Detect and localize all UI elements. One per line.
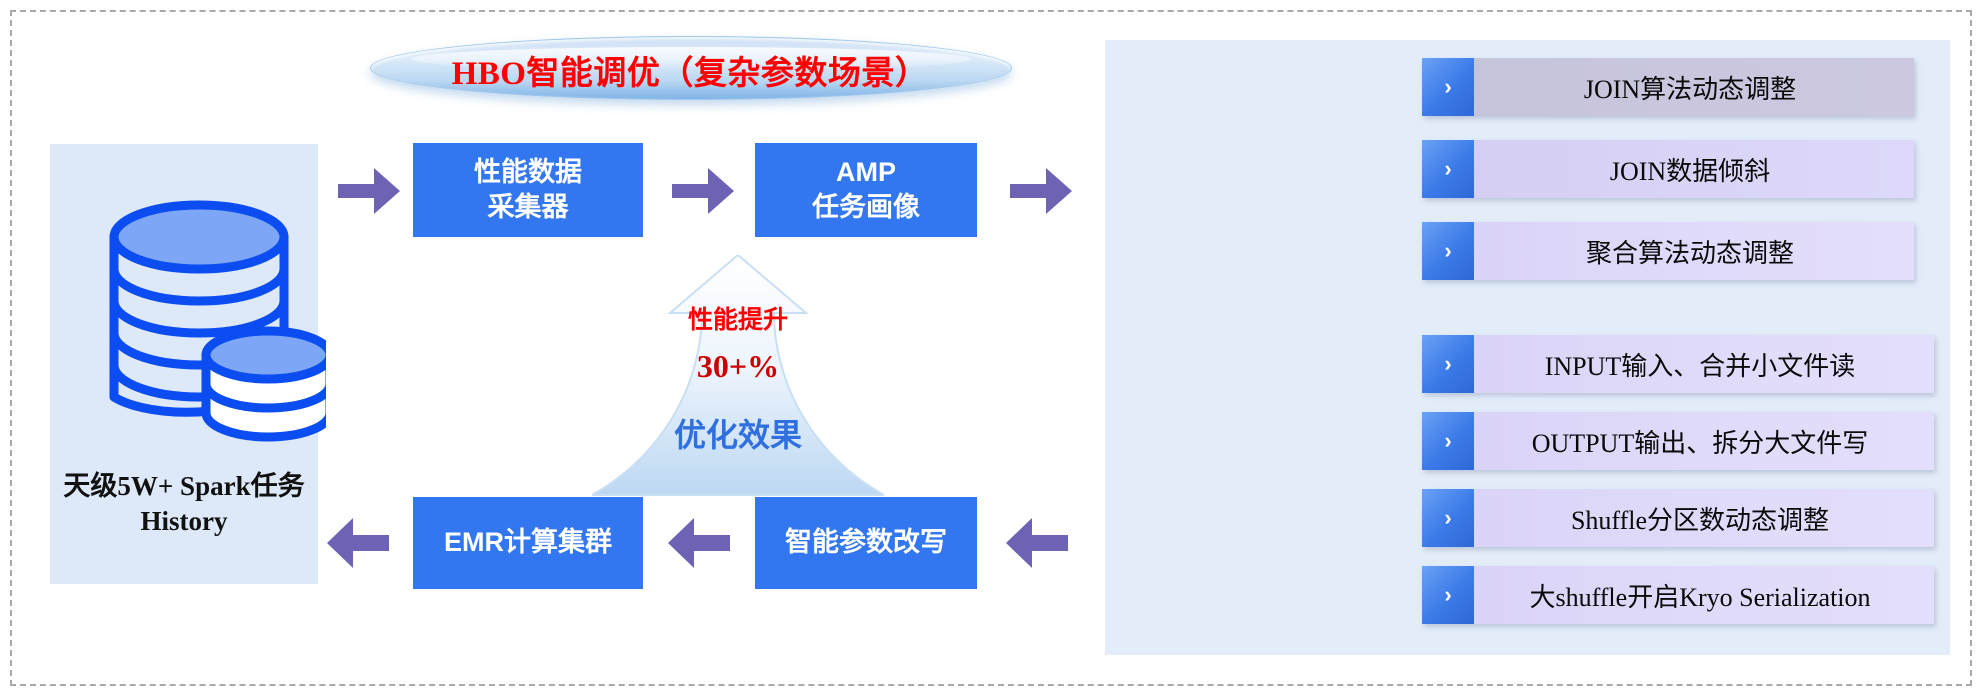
list-item-label: 聚合算法动态调整	[1474, 233, 1914, 270]
arrow-left-runtime-to-rewrite	[1006, 518, 1068, 573]
optimization-effect-label: 优化效果	[592, 410, 884, 456]
chevron-right-icon: ›	[1422, 58, 1474, 116]
diagram-canvas: HBO智能调优（复杂参数场景）	[0, 0, 1986, 700]
list-item[interactable]: › OUTPUT输出、拆分大文件写	[1422, 412, 1934, 470]
list-item[interactable]: › 大shuffle开启Kryo Serialization	[1422, 566, 1934, 624]
rewrite-label: 智能参数改写	[785, 525, 947, 560]
arrow-right-amp-to-plan	[1010, 168, 1072, 219]
flow-box-rewrite[interactable]: 智能参数改写	[755, 497, 977, 589]
list-item[interactable]: › INPUT输入、合并小文件读	[1422, 335, 1934, 393]
list-item[interactable]: › 聚合算法动态调整	[1422, 222, 1914, 280]
perf-improvement-value: 30+%	[592, 348, 884, 385]
arrow-right-history-to-collector	[338, 168, 400, 219]
list-item[interactable]: › JOIN数据倾斜	[1422, 140, 1914, 198]
history-panel: 天级5W+ Spark任务History	[50, 144, 318, 584]
chevron-right-icon: ›	[1422, 412, 1474, 470]
list-item-label: JOIN算法动态调整	[1474, 69, 1914, 106]
chevron-right-icon: ›	[1422, 335, 1474, 393]
chevron-right-icon: ›	[1422, 566, 1474, 624]
amp-line2: 任务画像	[812, 190, 920, 225]
arrow-left-emr-to-history	[327, 518, 389, 573]
list-item[interactable]: › JOIN算法动态调整	[1422, 58, 1914, 116]
list-item[interactable]: › Shuffle分区数动态调整	[1422, 489, 1934, 547]
list-item-label: INPUT输入、合并小文件读	[1474, 346, 1934, 383]
chevron-right-icon: ›	[1422, 140, 1474, 198]
history-label-line1: 天级5W+	[63, 471, 173, 501]
perf-improvement-label: 性能提升	[592, 300, 884, 336]
list-item-label: Shuffle分区数动态调整	[1474, 500, 1934, 537]
history-label: 天级5W+ Spark任务History	[50, 469, 318, 540]
chevron-right-icon: ›	[1422, 222, 1474, 280]
coin-stack-database-icon	[96, 190, 326, 450]
chevron-right-icon: ›	[1422, 489, 1474, 547]
amp-line1: AMP	[812, 155, 920, 190]
list-item-label: OUTPUT输出、拆分大文件写	[1474, 423, 1934, 460]
list-item-label: JOIN数据倾斜	[1474, 151, 1914, 188]
collector-line2: 采集器	[474, 190, 582, 225]
page-title: HBO智能调优（复杂参数场景）	[370, 46, 1010, 94]
title-banner: HBO智能调优（复杂参数场景）	[370, 30, 1010, 108]
flow-box-collector[interactable]: 性能数据 采集器	[413, 143, 643, 237]
emr-label: EMR计算集群	[444, 525, 612, 560]
arrow-right-collector-to-amp	[672, 168, 734, 219]
list-item-label: 大shuffle开启Kryo Serialization	[1474, 577, 1934, 614]
flow-box-amp[interactable]: AMP 任务画像	[755, 143, 977, 237]
flow-box-emr[interactable]: EMR计算集群	[413, 497, 643, 589]
arrow-left-rewrite-to-emr	[668, 518, 730, 573]
collector-line1: 性能数据	[474, 155, 582, 190]
